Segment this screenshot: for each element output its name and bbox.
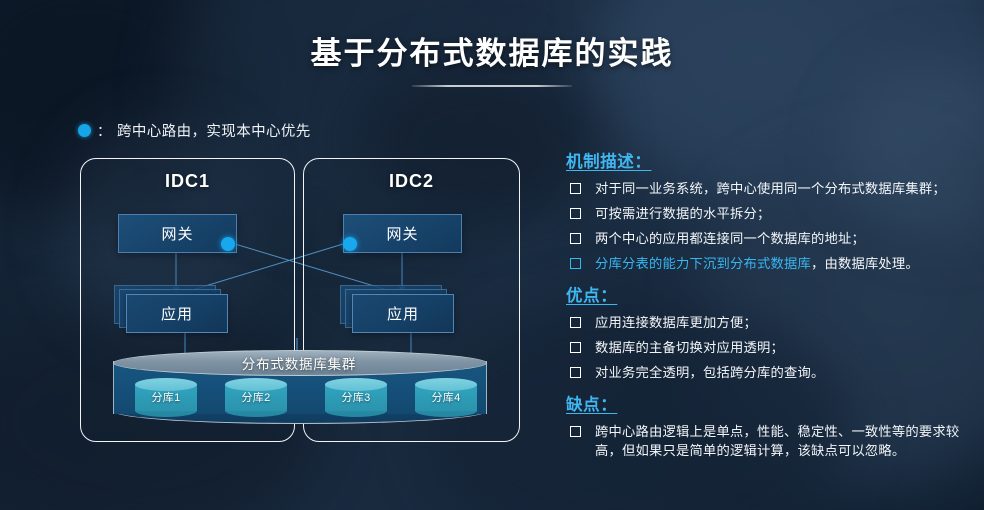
- legend-dot-icon: [78, 124, 91, 137]
- section-heading: 缺点：: [566, 391, 966, 415]
- section-heading: 优点：: [566, 282, 966, 306]
- bullet-label: 应用连接数据库更加方便；: [595, 313, 757, 332]
- bullet-item: 跨中心路由逻辑上是单点，性能、稳定性、一致性等的要求较高，但如果只是简单的逻辑计…: [566, 422, 966, 460]
- bullet-label: 对于同一业务系统，跨中心使用同一个分布式数据库集群；: [595, 179, 946, 198]
- bullet-label-highlight: 分库分表的能力下沉到分布式数据库: [595, 256, 811, 271]
- idc2-title: IDC2: [304, 171, 519, 192]
- bullet-square-icon: [570, 208, 581, 219]
- bullet-square-icon: [570, 426, 581, 437]
- idc1-routing-dot-icon: [221, 237, 235, 251]
- bullet-square-icon: [570, 317, 581, 328]
- bullet-label-tail: ，由数据库处理。: [811, 256, 919, 271]
- shard-cylinder: 分库4: [415, 378, 477, 416]
- idc1-title: IDC1: [81, 171, 294, 192]
- idc1-app-stack: 应用: [114, 285, 220, 331]
- bullet-item: 两个中心的应用都连接同一个数据库的地址；: [566, 229, 966, 248]
- bullet-label: 分库分表的能力下沉到分布式数据库，由数据库处理。: [595, 254, 919, 273]
- idc2-routing-dot-icon: [343, 237, 357, 251]
- shard-label: 分库1: [135, 389, 197, 405]
- bullet-item: 数据库的主备切换对应用透明；: [566, 338, 966, 357]
- bullet-label: 可按需进行数据的水平拆分；: [595, 204, 770, 223]
- bullet-label: 对业务完全透明，包括跨分库的查询。: [595, 363, 824, 382]
- section-mechanism: 机制描述： 对于同一业务系统，跨中心使用同一个分布式数据库集群； 可按需进行数据…: [566, 148, 966, 273]
- legend-colon: ：: [97, 121, 111, 141]
- idc2-app-stack: 应用: [340, 285, 446, 331]
- bullet-item-highlighted: 分库分表的能力下沉到分布式数据库，由数据库处理。: [566, 254, 966, 273]
- bullet-item: 对业务完全透明，包括跨分库的查询。: [566, 363, 966, 382]
- idc1-gateway-node: 网关: [118, 214, 237, 253]
- section-disadvantages: 缺点： 跨中心路由逻辑上是单点，性能、稳定性、一致性等的要求较高，但如果只是简单…: [566, 391, 966, 460]
- bullet-label: 数据库的主备切换对应用透明；: [595, 338, 784, 357]
- bullet-label: 两个中心的应用都连接同一个数据库的地址；: [595, 229, 865, 248]
- title-divider: [412, 85, 572, 87]
- idc2-app-node: 应用: [352, 294, 454, 333]
- idc1-app-node: 应用: [126, 294, 228, 333]
- slide-root: 基于分布式数据库的实践 ： 跨中心路由，实现本中心优先 IDC1: [0, 0, 984, 510]
- architecture-diagram: IDC1 IDC2 网关 网关 应用 应用 分布式数据库集群: [80, 158, 530, 443]
- bullet-square-icon: [570, 183, 581, 194]
- bullet-square-icon: [570, 233, 581, 244]
- shard-label: 分库4: [415, 389, 477, 405]
- database-cluster: 分布式数据库集群 分库1 分库2 分库3: [113, 350, 485, 422]
- shard-label: 分库3: [325, 389, 387, 405]
- section-heading: 机制描述：: [566, 148, 966, 172]
- cluster-label: 分布式数据库集群: [113, 353, 485, 373]
- bullet-item: 应用连接数据库更加方便；: [566, 313, 966, 332]
- bullet-square-icon: [570, 342, 581, 353]
- bullet-label: 跨中心路由逻辑上是单点，性能、稳定性、一致性等的要求较高，但如果只是简单的逻辑计…: [595, 422, 966, 460]
- bullet-item: 可按需进行数据的水平拆分；: [566, 204, 966, 223]
- slide-title: 基于分布式数据库的实践: [0, 28, 984, 73]
- shard-label: 分库2: [225, 389, 287, 405]
- description-panel: 机制描述： 对于同一业务系统，跨中心使用同一个分布式数据库集群； 可按需进行数据…: [566, 148, 966, 469]
- section-advantages: 优点： 应用连接数据库更加方便； 数据库的主备切换对应用透明； 对业务完全透明，…: [566, 282, 966, 382]
- idc2-gateway-node: 网关: [343, 214, 462, 253]
- bullet-square-icon: [570, 258, 581, 269]
- shard-cylinder: 分库3: [325, 378, 387, 416]
- bullet-item: 对于同一业务系统，跨中心使用同一个分布式数据库集群；: [566, 179, 966, 198]
- legend: ： 跨中心路由，实现本中心优先: [78, 120, 311, 141]
- legend-label: 跨中心路由，实现本中心优先: [117, 120, 311, 141]
- shard-cylinder: 分库2: [225, 378, 287, 416]
- shard-cylinder: 分库1: [135, 378, 197, 416]
- bullet-square-icon: [570, 367, 581, 378]
